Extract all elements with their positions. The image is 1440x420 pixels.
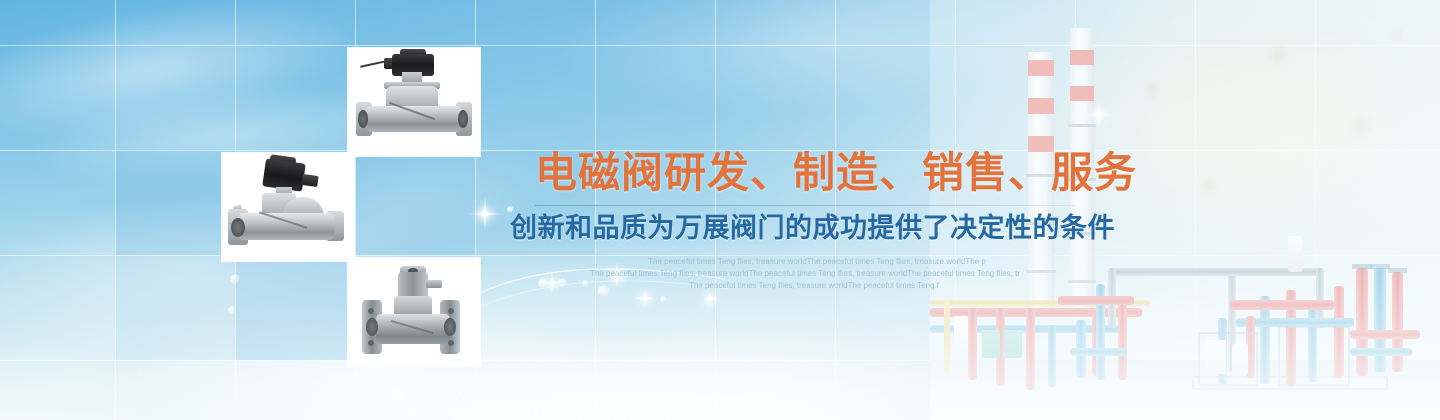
pipe-red: [1058, 296, 1134, 305]
pipe-red: [1230, 300, 1334, 310]
grid-line-horizontal: [0, 45, 1440, 46]
solenoid-valve-angled-image: [222, 153, 354, 261]
cloud-wisp: [557, 0, 1084, 124]
tile-cell: [115, 150, 235, 255]
sparkle-star: [468, 197, 502, 231]
tile-cell: [115, 255, 235, 360]
pipe-yellow: [930, 300, 1150, 306]
product-thumbnail-solenoid-valve-angled[interactable]: [222, 153, 354, 261]
pipe-blue-column: [1374, 268, 1386, 372]
vessel-white: [954, 316, 968, 362]
bokeh-dot: [660, 296, 666, 302]
grid-line-horizontal: [0, 360, 1440, 361]
bokeh-dot: [230, 274, 240, 284]
grid-line-vertical: [1195, 0, 1196, 420]
banner-blurb: The peaceful times Teng flies, treasure …: [500, 256, 1100, 292]
pipe-flange: [1352, 264, 1372, 269]
banner-subheadline: 创新和品质为万展阀门的成功提供了决定性的条件: [500, 212, 1120, 244]
grid-line-vertical: [115, 0, 116, 420]
pipe-yellow: [944, 300, 950, 374]
banner-headline: 电磁阀研发、制造、销售、服务: [500, 150, 1120, 196]
pipe-blue: [1350, 348, 1412, 356]
pipe-blue: [1048, 325, 1056, 387]
pipe-blue: [1096, 284, 1105, 380]
pipe-blue: [1236, 318, 1354, 327]
tile-cell: [235, 255, 355, 360]
skid-base: [1192, 376, 1388, 390]
hero-banner: 电磁阀研发、制造、销售、服务 创新和品质为万展阀门的成功提供了决定性的条件 Th…: [0, 0, 1440, 420]
pipe-red: [1026, 308, 1035, 390]
bokeh-dot: [392, 388, 404, 400]
pipe-red: [1118, 296, 1127, 380]
pipe-red: [996, 308, 1005, 386]
pipe-gray: [1316, 268, 1324, 328]
vessel-teal: [1004, 330, 1022, 358]
pipe-red: [930, 308, 1142, 317]
pipe-red: [1350, 330, 1420, 339]
sparkle-star: [1086, 102, 1112, 128]
pipe-flange: [1388, 268, 1407, 273]
pipe-red: [1092, 312, 1101, 376]
pipe-red: [1286, 290, 1296, 386]
pipe-flange: [1370, 264, 1390, 269]
cloud-wisp: [897, 289, 1440, 420]
plant-ground: [930, 360, 1440, 420]
pipe-blue: [1070, 348, 1126, 356]
pipe-blue: [1308, 300, 1317, 382]
vessel-white: [1288, 236, 1302, 272]
vessel-white: [1232, 344, 1248, 374]
pipe-blue: [1076, 320, 1086, 378]
solenoid-valve-inline-image: [348, 48, 480, 156]
tile-cell: [355, 150, 475, 255]
pipe-red: [968, 308, 977, 380]
sparkle-star: [702, 291, 718, 307]
product-thumbnail-solenoid-valve-inline[interactable]: [348, 48, 480, 156]
headline-divider: [535, 205, 1075, 206]
chimney-band: [1070, 86, 1094, 101]
pipe-blue: [1218, 318, 1227, 384]
vessel-teal: [982, 330, 1000, 358]
blurb-line-3: The peaceful times Teng flies, treasure …: [510, 280, 1100, 292]
banner-text-block: 电磁阀研发、制造、销售、服务 创新和品质为万展阀门的成功提供了决定性的条件 Th…: [500, 150, 1120, 292]
grid-line-vertical: [1315, 0, 1316, 420]
vessel-white: [1206, 340, 1226, 374]
pipe-gray-header: [1216, 268, 1324, 276]
pipe-red: [1334, 286, 1344, 378]
cloud-wisp: [0, 0, 367, 162]
pipe-blue: [930, 325, 1126, 333]
pipe-red-column: [1392, 272, 1403, 372]
equipment-frame: [1198, 332, 1258, 386]
pipe-red: [1246, 316, 1255, 378]
pipe-blue: [1260, 296, 1270, 384]
blurb-line-1: The peaceful times Teng flies, treasure …: [510, 256, 1100, 268]
blurb-line-2: The peaceful times Teng flies, treasure …: [510, 268, 1100, 280]
pipe-gray: [1228, 268, 1236, 372]
equipment-frame: [1278, 326, 1350, 386]
pipe-red-column: [1356, 268, 1368, 376]
pipe-gray-header: [1108, 268, 1236, 276]
cloud-wisp: [429, 325, 1052, 420]
chimney-band: [1028, 60, 1054, 76]
solenoid-valve-flanged-image: [348, 258, 480, 366]
bokeh-dot: [228, 306, 236, 314]
chimney-band: [1070, 50, 1094, 65]
chimney-band: [1028, 98, 1054, 114]
product-thumbnail-solenoid-valve-flanged[interactable]: [348, 258, 480, 366]
bokeh-dot: [1098, 112, 1104, 118]
chimney-ring: [1068, 124, 1096, 127]
